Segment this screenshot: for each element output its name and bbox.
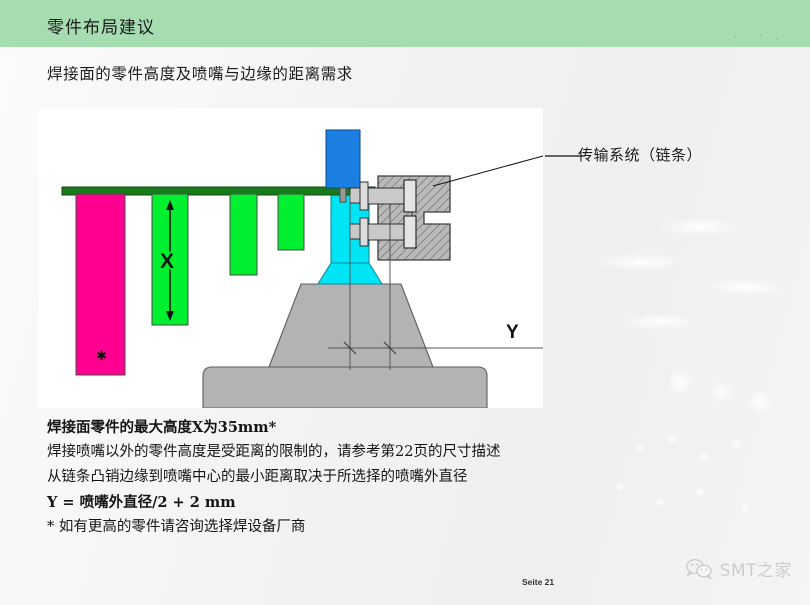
- component-green-2: [230, 194, 257, 275]
- body-line-3: 从链条凸销边缘到喷嘴中心的最小距离取决于所选择的喷嘴外直径: [47, 465, 687, 490]
- header-speck-decoration: [728, 34, 788, 42]
- chain-pin-lower-head: [360, 218, 368, 246]
- chain-roller-lower: [404, 216, 416, 248]
- body-line-2: 焊接喷嘴以外的零件高度是受距离的限制的，请参考第22页的尺寸描述: [47, 440, 687, 465]
- slide: 零件布局建议 焊接面的零件高度及喷嘴与边缘的距离需求 ✱: [0, 0, 810, 605]
- body-line-5: * 如有更高的零件请咨询选择焊设备厂商: [47, 515, 687, 540]
- chain-pin-lower-shaft: [368, 224, 406, 240]
- machine-base-block: [203, 367, 487, 408]
- watermark-text: SMT之家: [720, 556, 792, 581]
- asterisk-marker: ✱: [96, 349, 107, 364]
- machine-riser-trapezoid: [269, 284, 433, 367]
- watermark: SMT之家: [686, 556, 792, 581]
- component-blue-top: [326, 130, 360, 188]
- body-line-4: Y = 喷嘴外直径/2 + 2 mm: [47, 490, 687, 515]
- page-title: 零件布局建议: [47, 13, 155, 38]
- assembly-diagram: ✱ X: [38, 108, 543, 408]
- chain-pin-upper-head: [360, 182, 368, 210]
- blue-part-pin: [340, 188, 346, 202]
- chain-roller-upper: [404, 180, 416, 212]
- callout-leader-inner: [433, 156, 543, 186]
- dimension-x-label: X: [160, 250, 174, 273]
- component-magenta-tall: [76, 194, 125, 375]
- body-text-block: 焊接面零件的最大高度X为35mm* 焊接喷嘴以外的零件高度是受距离的限制的，请参…: [47, 415, 687, 540]
- body-line-1: 焊接面零件的最大高度X为35mm*: [47, 415, 687, 440]
- wechat-icon: [686, 558, 714, 580]
- component-green-3: [278, 194, 304, 250]
- slide-subtitle: 焊接面的零件高度及喷嘴与边缘的距离需求: [47, 62, 353, 84]
- chain-pin-upper-shaft: [368, 188, 406, 204]
- dimension-y-label: Y: [506, 322, 519, 343]
- chain-pin-lower-tip: [350, 224, 360, 239]
- slide-header-bar: 零件布局建议: [0, 0, 810, 47]
- chain-pin-upper-tip: [350, 188, 360, 203]
- conveyor-callout-label: 传输系统（链条）: [578, 144, 702, 165]
- diagram-panel: ✱ X: [38, 108, 543, 408]
- footer-page-number: Seite 21: [522, 577, 554, 587]
